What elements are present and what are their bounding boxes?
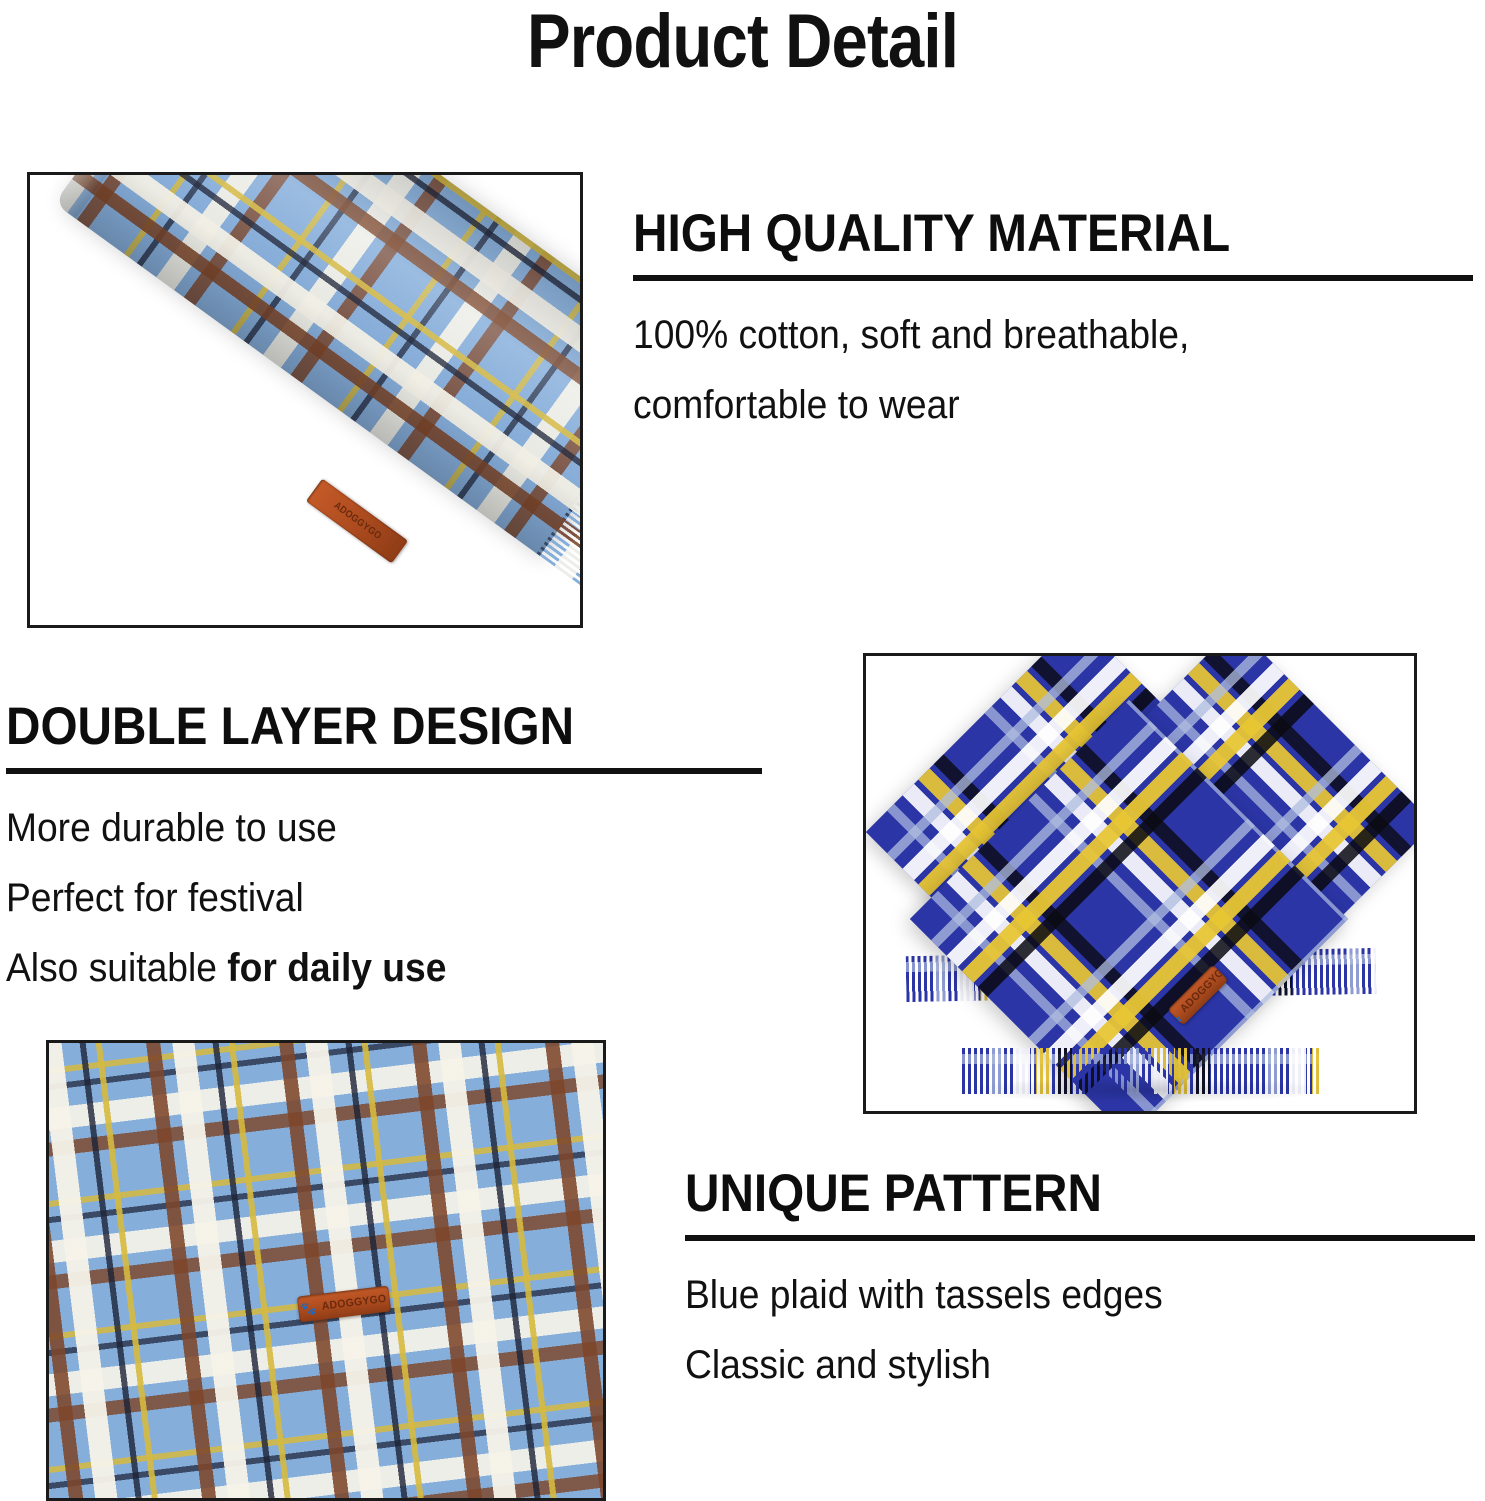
bandana-triangle-body — [866, 656, 1414, 1111]
feature-heading-double-layer-design: DOUBLE LAYER DESIGN — [6, 700, 686, 754]
feature-body-double-layer-design: More durable to use Perfect for festival… — [6, 808, 709, 988]
photo-inner-bandana-flat: 🐾 ADOGGYGO — [49, 1043, 603, 1498]
feature-heading-unique-pattern: UNIQUE PATTERN — [685, 1167, 1396, 1221]
brand-label-text: ADOGGYGO — [321, 1293, 387, 1313]
photo-inner-rolled-scarf: ADOGGYGO — [30, 175, 580, 625]
feature-rule-double-layer-design — [6, 768, 762, 774]
product-photo-rolled-scarf: ADOGGYGO — [27, 172, 583, 628]
feature-line: 100% cotton, soft and breathable, — [633, 315, 1414, 355]
feature-rule-high-quality-material — [633, 275, 1473, 281]
bandana-flat-fringe-bottom — [49, 1492, 603, 1498]
bandana-drop-shadow — [956, 1077, 1336, 1103]
feature-line: Classic and stylish — [685, 1345, 1420, 1385]
feature-body-unique-pattern: Blue plaid with tassels edges Classic an… — [685, 1275, 1420, 1385]
feature-heading-high-quality-material: HIGH QUALITY MATERIAL — [633, 207, 1389, 261]
paw-print-icon: 🐾 — [299, 1301, 317, 1316]
page-title: Product Detail — [104, 2, 1381, 82]
product-photo-bandana-flat: 🐾 ADOGGYGO — [46, 1040, 606, 1501]
feature-line-bold-part: for daily use — [227, 946, 446, 990]
feature-line-mixed: Also suitable for daily use — [6, 948, 709, 988]
brand-tag-rolled-scarf: ADOGGYGO — [306, 479, 408, 564]
feature-high-quality-material: HIGH QUALITY MATERIAL 100% cotton, soft … — [633, 207, 1473, 425]
feature-unique-pattern: UNIQUE PATTERN Blue plaid with tassels e… — [685, 1167, 1475, 1385]
feature-line: More durable to use — [6, 808, 709, 848]
bandana-flat-fringe-left — [49, 1043, 54, 1498]
product-photo-bandana-triangle: 🐾 ADOGGYGO — [863, 653, 1417, 1114]
feature-line: Blue plaid with tassels edges — [685, 1275, 1420, 1315]
photo-inner-bandana-triangle: 🐾 ADOGGYGO — [866, 656, 1414, 1111]
feature-line: comfortable to wear — [633, 385, 1414, 425]
feature-rule-unique-pattern — [685, 1235, 1475, 1241]
feature-double-layer-design: DOUBLE LAYER DESIGN More durable to use … — [6, 700, 762, 988]
feature-line: Perfect for festival — [6, 878, 709, 918]
brand-label-text: ADOGGYGO — [331, 500, 383, 542]
feature-line-normal-part: Also suitable — [6, 946, 227, 990]
feature-body-high-quality-material: 100% cotton, soft and breathable, comfor… — [633, 315, 1414, 425]
bandana-flat-body — [49, 1043, 603, 1498]
